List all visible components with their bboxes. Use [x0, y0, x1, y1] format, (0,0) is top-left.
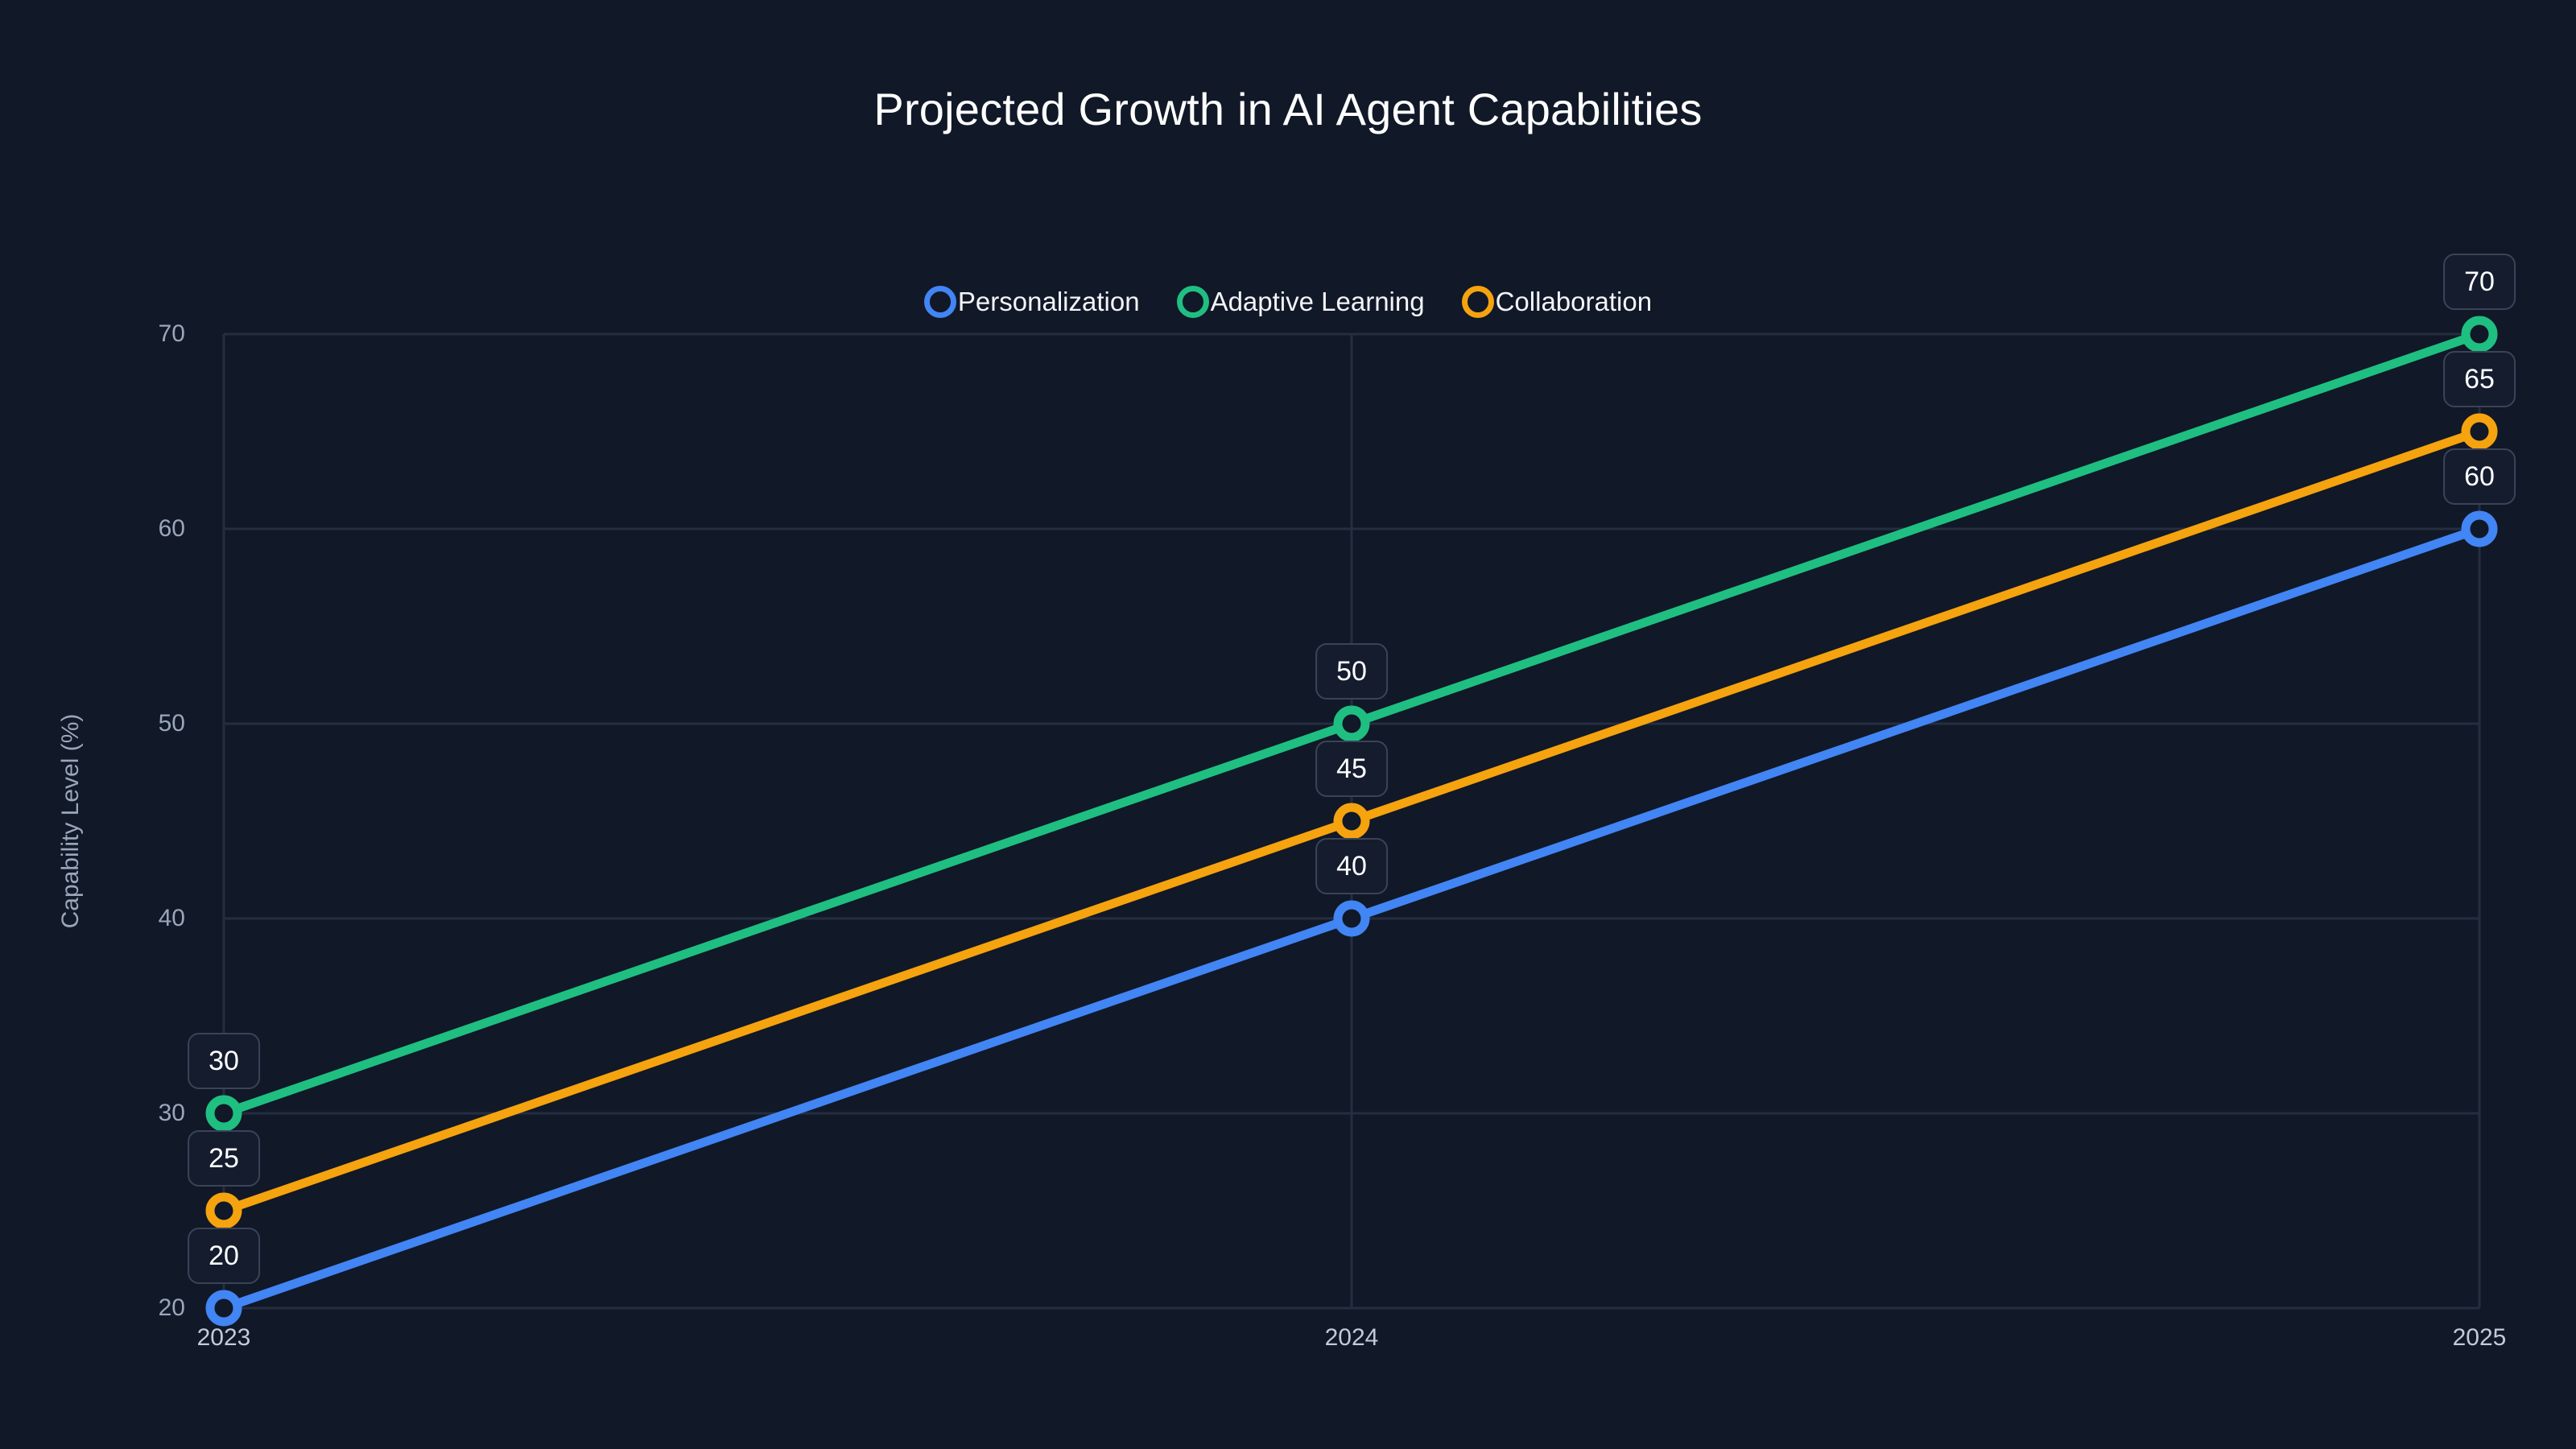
- data-point-value-label: 60: [2443, 448, 2516, 505]
- data-point-marker[interactable]: [2466, 515, 2493, 543]
- data-point-marker[interactable]: [210, 1197, 237, 1224]
- y-axis-tick-label: 20: [113, 1294, 185, 1322]
- y-axis-tick-label: 30: [113, 1100, 185, 1127]
- data-point-marker[interactable]: [210, 1294, 237, 1322]
- chart-canvas: Projected Growth in AI Agent Capabilitie…: [0, 0, 2576, 1449]
- x-axis-tick-label: 2025: [2453, 1324, 2507, 1352]
- data-point-marker[interactable]: [2466, 418, 2493, 445]
- x-axis-tick-label: 2023: [197, 1324, 251, 1352]
- data-point-value-label: 45: [1315, 741, 1388, 797]
- y-axis-tick-label: 60: [113, 515, 185, 543]
- data-point-marker[interactable]: [1338, 807, 1365, 835]
- data-point-marker[interactable]: [1338, 710, 1365, 737]
- plot-area: [0, 0, 2576, 1449]
- y-axis-tick-label: 70: [113, 320, 185, 348]
- y-axis-title: Capability Level (%): [57, 714, 85, 929]
- data-point-marker[interactable]: [210, 1100, 237, 1127]
- data-point-marker[interactable]: [2466, 320, 2493, 348]
- data-point-value-label: 40: [1315, 838, 1388, 894]
- x-axis-tick-label: 2024: [1325, 1324, 1379, 1352]
- data-point-value-label: 25: [188, 1130, 260, 1187]
- data-point-value-label: 20: [188, 1228, 260, 1284]
- y-axis-tick-label: 40: [113, 905, 185, 932]
- data-point-value-label: 70: [2443, 254, 2516, 310]
- data-point-marker[interactable]: [1338, 905, 1365, 932]
- data-point-value-label: 50: [1315, 643, 1388, 700]
- data-point-value-label: 65: [2443, 351, 2516, 407]
- data-point-value-label: 30: [188, 1033, 260, 1089]
- y-axis-tick-label: 50: [113, 710, 185, 737]
